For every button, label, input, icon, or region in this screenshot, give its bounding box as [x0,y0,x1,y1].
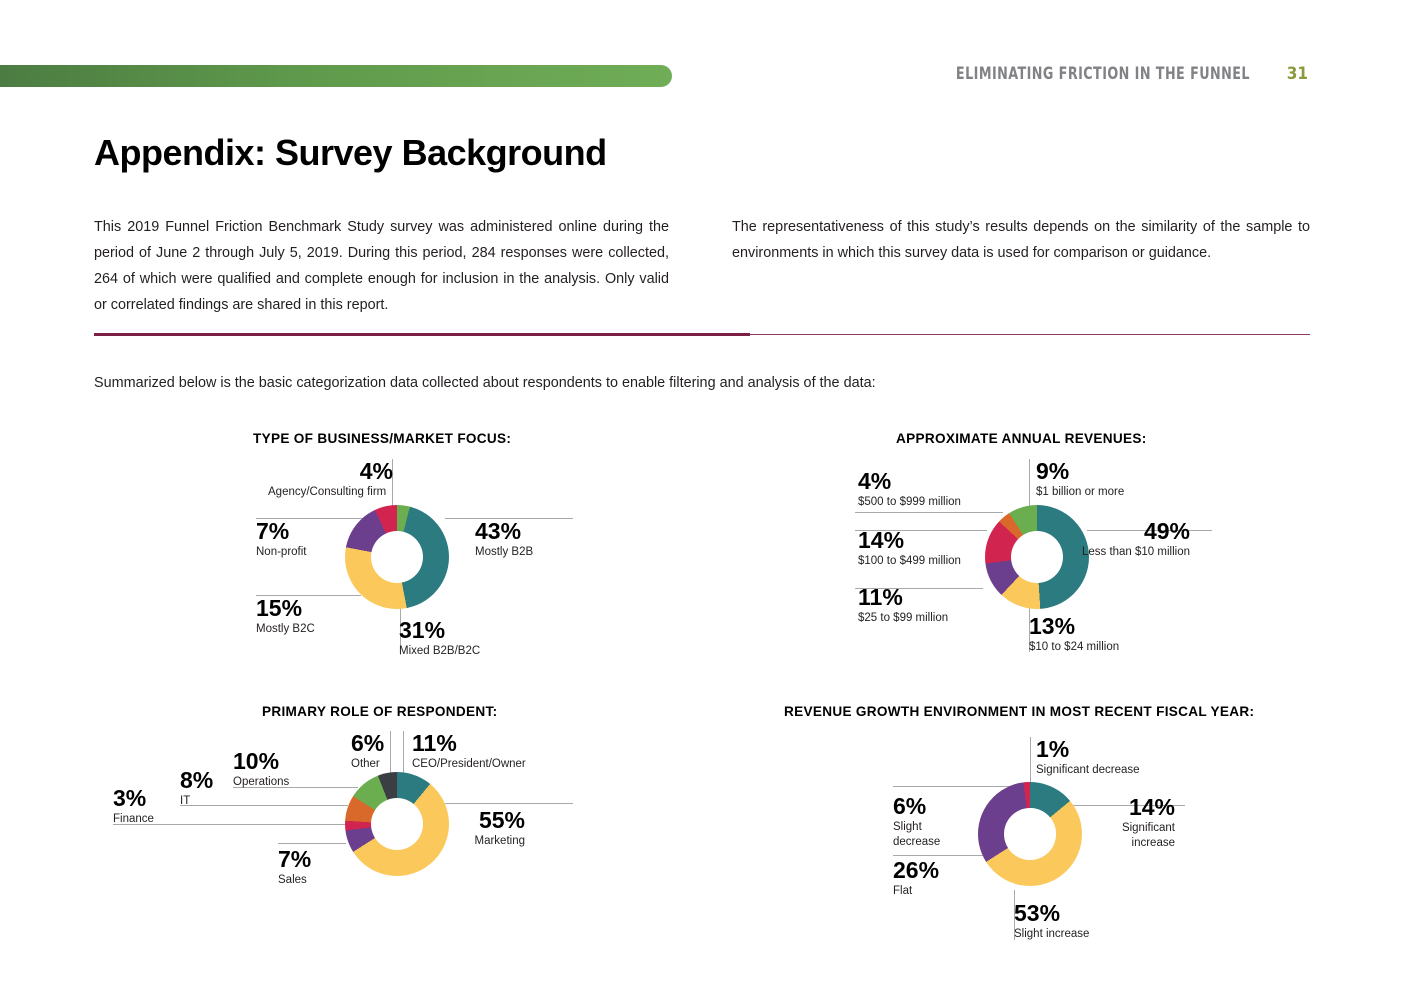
segment-value: 49% [1080,519,1190,543]
segment-value: 6% [893,794,993,818]
segment-caption: Significant [1085,821,1175,835]
segment-label-mostly-b2c: 15% Mostly B2C [256,596,376,637]
segment-caption: Mostly B2B [475,545,585,559]
segment-caption: CEO/President/Owner [412,757,582,771]
segment-caption: Operations [233,775,343,789]
segment-value: 6% [351,731,401,755]
segment-label-non-profit: 7% Non-profit [256,519,376,560]
segment-value: 14% [1085,795,1175,819]
segment-caption: $100 to $499 million [858,554,1028,568]
segment-label-agency: 4% Agency/Consulting firm [268,459,393,500]
lead-in-text: Summarized below is the basic categoriza… [94,375,876,391]
donut-hole [1004,808,1056,860]
donut-chart-overlay [978,782,1082,886]
segment-label-sales: 7% Sales [278,847,368,888]
segment-label-ceo: 11% CEO/President/Owner [412,731,582,772]
chart-title: PRIMARY ROLE OF RESPONDENT: [262,704,497,719]
segment-caption: IT [180,794,250,808]
segment-caption: Slight [893,820,993,834]
segment-value: 9% [1036,459,1206,483]
segment-value: 55% [450,808,525,832]
segment-label-significant-decrease: 1% Significant decrease [1036,737,1206,778]
segment-value: 31% [399,618,539,642]
segment-caption: Sales [278,873,368,887]
section-divider-thick [94,333,750,336]
segment-caption: decrease [893,835,993,849]
segment-caption: Non-profit [256,545,376,559]
segment-value: 11% [858,585,1018,609]
segment-label-mostly-b2b: 43% Mostly B2B [475,519,585,560]
segment-value: 4% [268,459,393,483]
segment-value: 26% [893,858,993,882]
segment-value: 10% [233,749,343,773]
leader-line [893,786,1015,787]
segment-label-slight-decrease: 6% Slight decrease [893,794,993,849]
segment-caption: $500 to $999 million [858,495,1028,509]
segment-label-marketing: 55% Marketing [450,808,525,849]
leader-line [1030,737,1031,785]
segment-label-other: 6% Other [351,731,401,772]
segment-value: 11% [412,731,582,755]
segment-label-slight-increase: 53% Slight increase [1014,901,1164,942]
segment-value: 7% [278,847,368,871]
segment-caption: increase [1085,836,1175,850]
segment-caption: Mixed B2B/B2C [399,644,539,658]
segment-value: 43% [475,519,585,543]
segment-label-10-to-24-million: 13% $10 to $24 million [1029,614,1189,655]
segment-label-25-to-99-million: 11% $25 to $99 million [858,585,1018,626]
leader-line [893,855,985,856]
segment-label-significant-increase: 14% Significant increase [1085,795,1175,850]
leader-line [403,731,404,778]
segment-caption: Less than $10 million [1080,545,1190,559]
segment-label-100-to-499-million: 14% $100 to $499 million [858,528,1028,569]
chart-title: APPROXIMATE ANNUAL REVENUES: [896,431,1147,446]
segment-value: 53% [1014,901,1164,925]
segment-label-mixed-b2b-b2c: 31% Mixed B2B/B2C [399,618,539,659]
leader-line [855,512,1003,513]
donut-hole [371,531,423,583]
leader-line [278,843,346,844]
segment-caption: Significant decrease [1036,763,1206,777]
chart-title: REVENUE GROWTH ENVIRONMENT IN MOST RECEN… [784,704,1254,719]
segment-caption: $1 billion or more [1036,485,1206,499]
chart-revenue-growth: REVENUE GROWTH ENVIRONMENT IN MOST RECEN… [0,0,1403,270]
segment-value: 14% [858,528,1028,552]
segment-caption: Finance [113,812,203,826]
segment-caption: Mostly B2C [256,622,376,636]
segment-value: 1% [1036,737,1206,761]
segment-value: 15% [256,596,376,620]
segment-caption: Other [351,757,401,771]
segment-value: 13% [1029,614,1189,638]
segment-caption: Flat [893,884,993,898]
donut-hole [371,798,423,850]
segment-label-less-than-10-million: 49% Less than $10 million [1080,519,1190,560]
leader-line [445,803,573,804]
segment-caption: Marketing [450,834,525,848]
chart-title: TYPE OF BUSINESS/MARKET FOCUS: [253,431,511,446]
segment-label-operations: 10% Operations [233,749,343,790]
segment-caption: $25 to $99 million [858,611,1018,625]
segment-value: 7% [256,519,376,543]
segment-label-500-to-999-million: 4% $500 to $999 million [858,469,1028,510]
segment-value: 4% [858,469,1028,493]
segment-label-1-billion-or-more: 9% $1 billion or more [1036,459,1206,500]
segment-caption: Slight increase [1014,927,1164,941]
segment-caption: Agency/Consulting firm [268,485,393,499]
segment-caption: $10 to $24 million [1029,640,1189,654]
segment-label-flat: 26% Flat [893,858,993,899]
